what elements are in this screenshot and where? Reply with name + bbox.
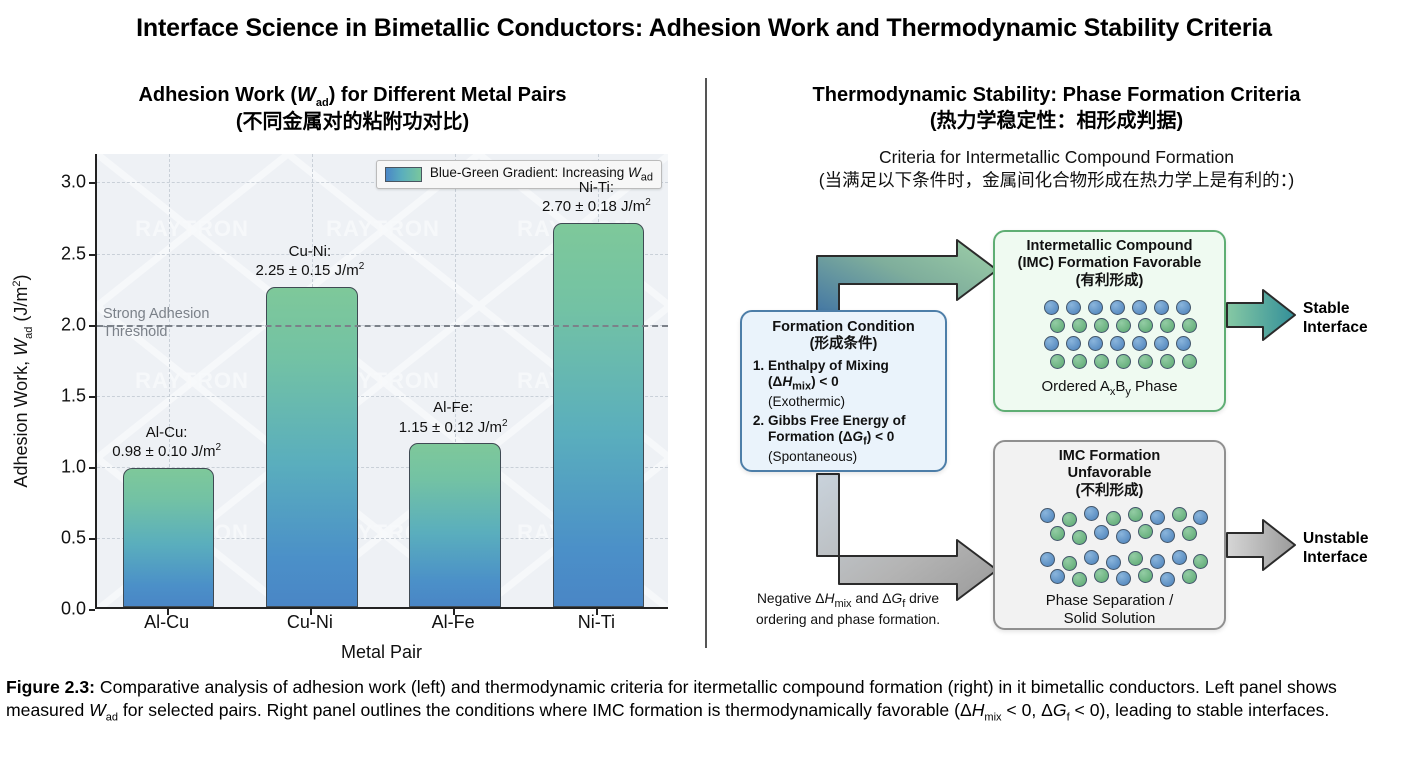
atom [1110, 300, 1125, 315]
bar-label-al-fe: Al-Fe:1.15 ± 0.12 J/m2 [343, 399, 563, 437]
x-tickmark [167, 609, 169, 615]
atom [1182, 354, 1197, 369]
imc-favorable-heading-line1: Intermetallic Compound [1001, 238, 1218, 255]
x-tickmark [596, 609, 598, 615]
stable-interface-line2: Interface [1303, 319, 1368, 338]
atom [1160, 318, 1175, 333]
atom [1040, 552, 1055, 567]
unstable-interface-line2: Interface [1303, 549, 1368, 568]
left-panel: Adhesion Work (Wad) for Different Metal … [0, 78, 705, 668]
imc-unfavorable-footer: Phase Separation / Solid Solution [1001, 592, 1218, 628]
x-tickmark [453, 609, 455, 615]
formation-condition-list: Enthalpy of Mixing (ΔHmix) < 0 (Exotherm… [750, 358, 937, 466]
atom [1193, 510, 1208, 525]
figure-caption-label: Figure 2.3: [6, 677, 95, 697]
y-tickmark [89, 609, 95, 611]
bar-chart: Adhesion Work, Wad (J/m2) 0.00.51.01.52.… [95, 154, 668, 609]
atom [1072, 530, 1087, 545]
atom [1066, 300, 1081, 315]
imc-favorable-box: Intermetallic Compound (IMC) Formation F… [993, 230, 1226, 412]
atom [1154, 300, 1169, 315]
atom [1050, 354, 1065, 369]
atom [1084, 550, 1099, 565]
formation-condition-heading-cn: (形成条件) [750, 336, 937, 353]
imc-unfavorable-footer-line1: Phase Separation / [1001, 592, 1218, 610]
x-tick-cu-ni: Cu-Ni [287, 612, 333, 633]
bar-label-al-cu: Al-Cu:0.98 ± 0.10 J/m2 [57, 424, 277, 462]
imc-favorable-heading-line2: (IMC) Formation Favorable [1001, 255, 1218, 272]
x-axis-label: Metal Pair [95, 642, 668, 663]
bar-label-ni-ti: Ni-Ti:2.70 ± 0.18 J/m2 [486, 179, 706, 217]
imc-unfavorable-footer-line2: Solid Solution [1001, 610, 1218, 628]
atom [1094, 525, 1109, 540]
arrow-to-unfavorable [817, 474, 997, 600]
imc-unfavorable-heading: IMC Formation Unfavorable (不利形成) [1001, 448, 1218, 500]
formation-condition-heading: Formation Condition (形成条件) [750, 319, 937, 354]
atom [1050, 318, 1065, 333]
atom [1138, 318, 1153, 333]
atom [1044, 300, 1059, 315]
atom [1150, 510, 1165, 525]
x-tick-al-fe: Al-Fe [432, 612, 475, 633]
ordered-lattice-diagram [1010, 296, 1210, 374]
left-panel-title-cn: (不同金属对的粘附功对比) [0, 110, 705, 136]
atom [1088, 300, 1103, 315]
atom [1176, 336, 1191, 351]
imc-unfavorable-heading-line2: Unfavorable [1001, 465, 1218, 482]
atom [1062, 556, 1077, 571]
atom [1066, 336, 1081, 351]
atom [1138, 524, 1153, 539]
atom [1088, 336, 1103, 351]
atom [1138, 354, 1153, 369]
atom [1094, 318, 1109, 333]
bar-cu-ni [266, 287, 358, 607]
atom [1072, 318, 1087, 333]
atom [1132, 336, 1147, 351]
arrow-unstable-interface [1227, 520, 1295, 570]
imc-favorable-heading-cn: (有利形成) [1001, 273, 1218, 290]
condition-item-1: Enthalpy of Mixing (ΔHmix) < 0 (Exotherm… [768, 358, 937, 411]
imc-unfavorable-heading-line1: IMC Formation [1001, 448, 1218, 465]
atom [1084, 506, 1099, 521]
right-panel: Thermodynamic Stability: Phase Formation… [705, 78, 1408, 668]
atom [1094, 568, 1109, 583]
atom [1106, 511, 1121, 526]
unstable-interface-label: Unstable Interface [1303, 530, 1368, 568]
x-tick-al-cu: Al-Cu [144, 612, 189, 633]
atom [1160, 572, 1175, 587]
atom [1116, 354, 1131, 369]
atom [1132, 300, 1147, 315]
disordered-lattice-diagram [1010, 506, 1210, 588]
x-tick-ni-ti: Ni-Ti [578, 612, 615, 633]
atom [1110, 336, 1125, 351]
right-panel-bottom-note: Negative ΔHmix and ΔGf drive ordering an… [733, 590, 963, 628]
atom [1172, 550, 1187, 565]
bar-ni-ti [553, 223, 645, 607]
atom [1116, 529, 1131, 544]
imc-favorable-heading: Intermetallic Compound (IMC) Formation F… [1001, 238, 1218, 290]
atom [1062, 512, 1077, 527]
atom [1154, 336, 1169, 351]
atom [1172, 507, 1187, 522]
atom [1182, 569, 1197, 584]
imc-unfavorable-heading-cn: (不利形成) [1001, 483, 1218, 500]
threshold-label: Strong AdhesionThreshold [103, 305, 209, 341]
atom [1128, 551, 1143, 566]
atom [1160, 354, 1175, 369]
atom [1182, 318, 1197, 333]
left-panel-title-en: Adhesion Work (Wad) for Different Metal … [138, 84, 566, 106]
imc-favorable-footer: Ordered AxBy Phase [1001, 378, 1218, 399]
atom [1044, 336, 1059, 351]
imc-unfavorable-box: IMC Formation Unfavorable (不利形成) Phase S… [993, 440, 1226, 630]
condition-item-2-note: (Spontaneous) [768, 449, 937, 465]
atom [1182, 526, 1197, 541]
bottom-note-line2: ordering and phase formation. [733, 611, 963, 628]
plot-area: RAYTRON Strong AdhesionThreshold Blue-Gr… [95, 154, 668, 609]
x-tickmark [310, 609, 312, 615]
left-panel-title: Adhesion Work (Wad) for Different Metal … [0, 78, 705, 136]
atom [1050, 569, 1065, 584]
atom [1040, 508, 1055, 523]
stable-interface-line1: Stable [1303, 300, 1368, 319]
figure-caption: Figure 2.3: Comparative analysis of adhe… [6, 676, 1402, 726]
unstable-interface-line1: Unstable [1303, 530, 1368, 549]
atom [1116, 571, 1131, 586]
condition-item-2: Gibbs Free Energy of Formation (ΔGf) < 0… [768, 413, 937, 466]
atom [1072, 572, 1087, 587]
atom [1116, 318, 1131, 333]
atom [1150, 554, 1165, 569]
arrow-stable-interface [1227, 290, 1295, 340]
legend-gradient-swatch [385, 167, 422, 182]
atom [1050, 526, 1065, 541]
atom [1138, 568, 1153, 583]
bottom-note-line1: Negative ΔHmix and ΔGf drive [733, 590, 963, 611]
atom [1193, 554, 1208, 569]
atom [1160, 528, 1175, 543]
y-axis-label: Adhesion Work, Wad (J/m2) [11, 216, 35, 546]
page-title: Interface Science in Bimetallic Conducto… [0, 14, 1408, 43]
bar-al-cu [123, 468, 215, 607]
atom [1094, 354, 1109, 369]
bar-al-fe [409, 443, 501, 607]
atom [1106, 555, 1121, 570]
atom [1128, 507, 1143, 522]
formation-condition-heading-en: Formation Condition [750, 319, 937, 336]
figure-caption-text: Comparative analysis of adhesion work (l… [6, 677, 1337, 720]
atom [1176, 300, 1191, 315]
bar-label-cu-ni: Cu-Ni:2.25 ± 0.15 J/m2 [200, 243, 420, 281]
stable-interface-label: Stable Interface [1303, 300, 1368, 338]
formation-condition-box: Formation Condition (形成条件) Enthalpy of M… [740, 310, 947, 472]
atom [1072, 354, 1087, 369]
condition-item-1-note: (Exothermic) [768, 394, 937, 410]
